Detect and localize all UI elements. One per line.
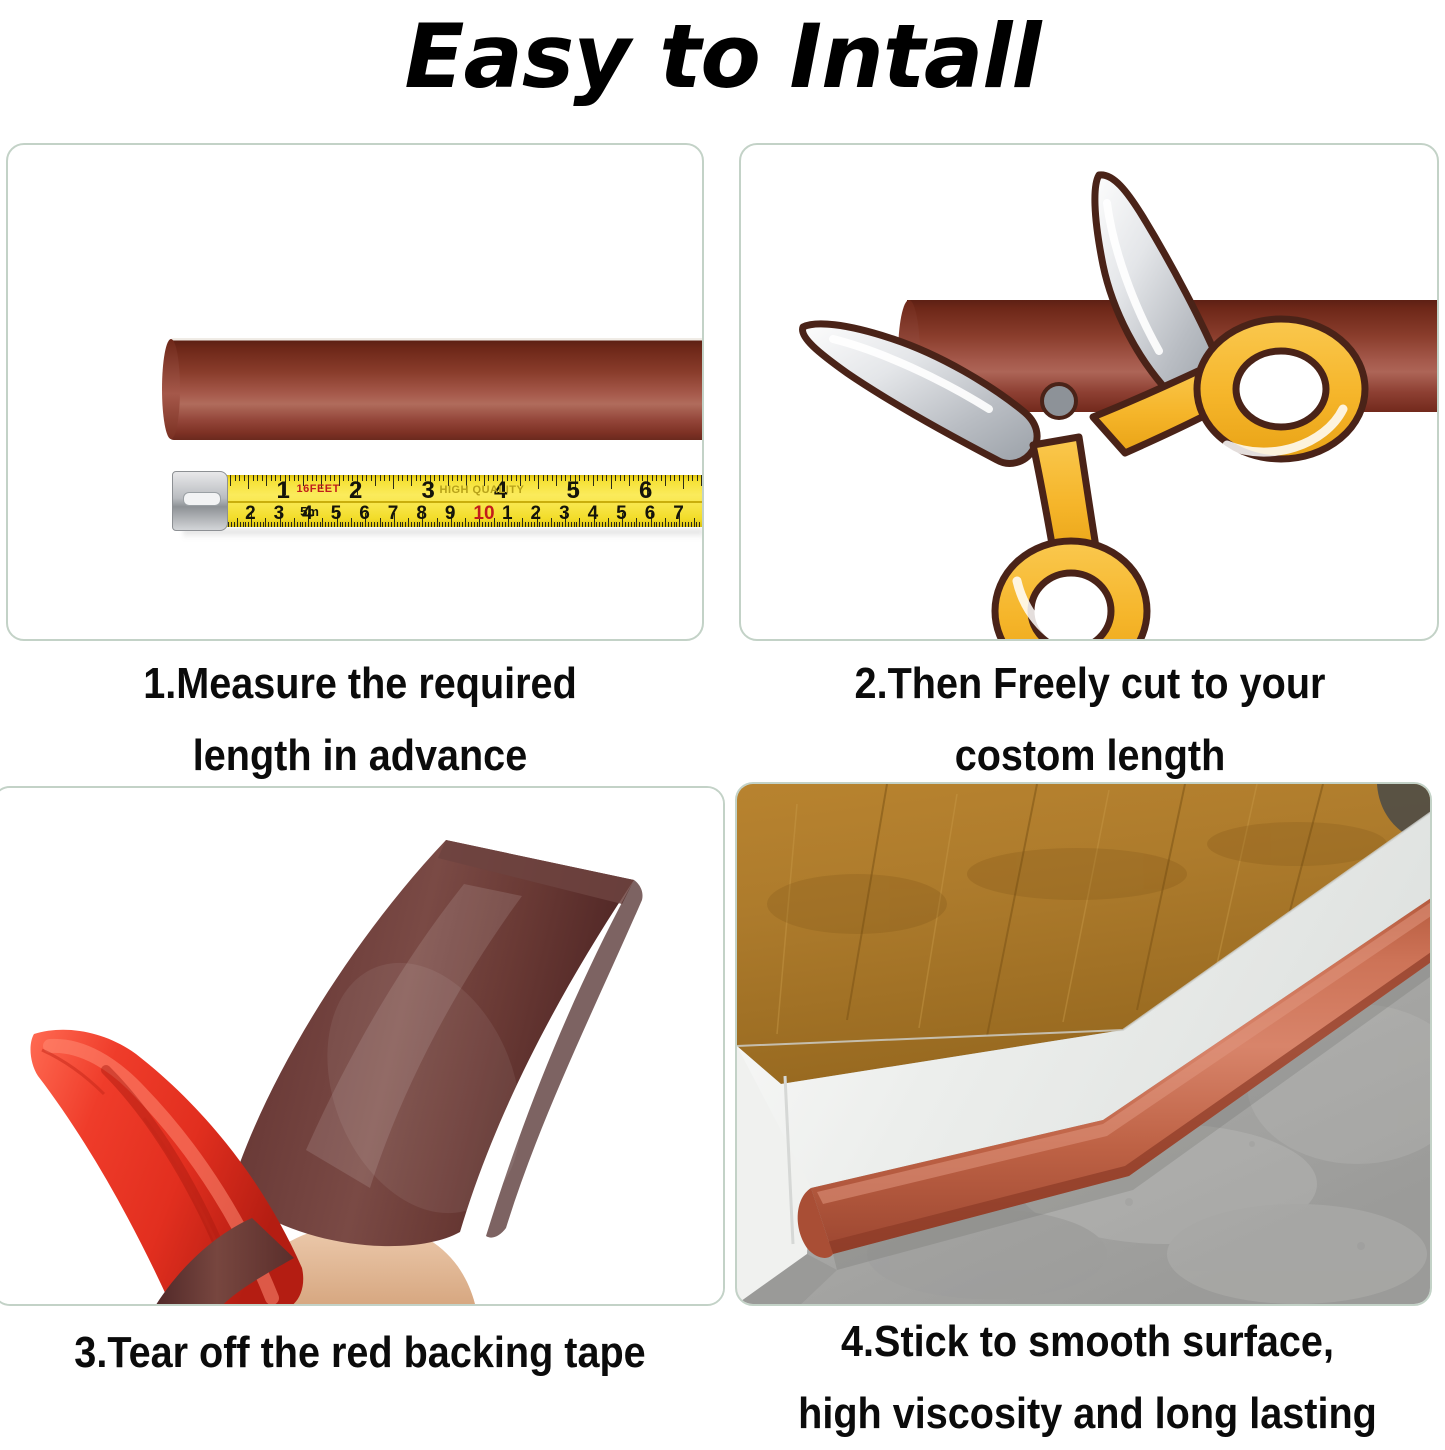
tape-tick-metric xyxy=(342,522,343,527)
tape-cm-label: 2 xyxy=(531,503,542,525)
tape-tick xyxy=(366,475,367,481)
tape-tick xyxy=(584,475,585,481)
tape-tick-metric xyxy=(602,522,603,527)
tape-tick xyxy=(371,475,372,481)
tape-tick-metric xyxy=(499,522,500,527)
tape-tick xyxy=(416,475,417,481)
tape-tick-metric xyxy=(659,522,660,527)
tape-tick-metric xyxy=(497,522,498,527)
tape-tick xyxy=(443,475,444,481)
tape-tick xyxy=(615,475,616,481)
tape-tick-metric xyxy=(557,522,558,527)
tape-tick-metric xyxy=(668,522,669,527)
tape-cm-label: 2 xyxy=(245,503,256,525)
tape-tick-metric xyxy=(377,522,378,527)
tape-tick-metric xyxy=(257,522,258,527)
tape-tick-metric xyxy=(328,522,329,527)
tape-tick-metric xyxy=(322,518,323,527)
tape-tick xyxy=(457,475,458,481)
tape-tick-metric xyxy=(688,522,689,527)
tape-tick-metric xyxy=(614,522,615,527)
tape-tick xyxy=(475,475,476,481)
tape-tick-metric xyxy=(380,518,381,527)
tape-tick-metric xyxy=(414,522,415,527)
tape-cm-label: 7 xyxy=(388,503,399,525)
tape-tick xyxy=(688,475,689,481)
tape-tick xyxy=(393,475,394,489)
tape-tick-metric xyxy=(271,522,272,527)
tape-tick xyxy=(235,475,236,481)
tape-tick xyxy=(656,475,657,481)
tape-tick xyxy=(266,475,267,486)
tape-tick xyxy=(665,475,666,486)
tape-inch-label: 1 xyxy=(277,477,290,505)
tape-tick-metric xyxy=(571,522,572,527)
tape-tick-metric xyxy=(465,518,466,527)
tape-tick-metric xyxy=(634,522,635,527)
tape-tick-metric xyxy=(374,522,375,527)
tape-tick-metric xyxy=(462,522,463,527)
tape-tick-metric xyxy=(348,522,349,527)
tape-tick-metric xyxy=(265,518,266,527)
tape-tick xyxy=(692,475,693,481)
tape-tick-metric xyxy=(574,522,575,527)
tape-tick-metric xyxy=(345,522,346,527)
tape-cm-label: 6 xyxy=(359,503,370,525)
tape-tick-metric xyxy=(662,522,663,527)
tape-tick-metric xyxy=(354,522,355,527)
tape-tick xyxy=(597,475,598,481)
tape-tick xyxy=(411,475,412,486)
tape-tick-metric xyxy=(585,522,586,527)
tape-inch-label: 6 xyxy=(639,477,652,505)
tape-tick xyxy=(556,475,557,486)
tape-tick-metric xyxy=(400,522,401,527)
tape-cm-label: 4 xyxy=(588,503,599,525)
tape-cm-label: 3 xyxy=(559,503,570,525)
tape-tick xyxy=(479,475,480,481)
tape-tick-metric xyxy=(631,522,632,527)
tape-tick xyxy=(402,475,403,481)
tape-tick xyxy=(244,475,245,481)
tape-tick-metric xyxy=(357,522,358,527)
tape-tick-metric xyxy=(243,522,244,527)
tape-tick xyxy=(525,475,526,481)
tape-tick-metric xyxy=(285,522,286,527)
tape-tick xyxy=(334,475,335,481)
tape-metric-total-label: 5m xyxy=(300,504,319,519)
tape-tick-metric xyxy=(694,518,695,527)
tape-tick xyxy=(588,475,589,481)
tape-tick-metric xyxy=(548,522,549,527)
tape-tick xyxy=(330,475,331,481)
tape-inch-label: 3 xyxy=(422,477,435,505)
tape-tick xyxy=(343,475,344,481)
tape-brand-label: 16FEET xyxy=(297,483,340,495)
tape-tick-metric xyxy=(288,522,289,527)
tape-tick-metric xyxy=(325,522,326,527)
tape-tick xyxy=(670,475,671,481)
tape-tick-metric xyxy=(468,522,469,527)
tape-tick-metric xyxy=(317,522,318,527)
tape-tick-metric xyxy=(297,522,298,527)
measure-panel: 1234567234567891012345678916FEETHIGH QUA… xyxy=(6,143,704,641)
tape-tick-metric xyxy=(551,518,552,527)
tape-cm-label: 7 xyxy=(673,503,684,525)
tape-tick-metric xyxy=(576,522,577,527)
peel-panel xyxy=(0,786,725,1306)
tape-tick xyxy=(316,475,317,481)
tape-tick xyxy=(633,475,634,481)
tape-tick-metric xyxy=(545,522,546,527)
tape-tick xyxy=(679,475,680,481)
tape-tick-metric xyxy=(300,522,301,527)
tape-tick xyxy=(624,475,625,481)
tape-tick xyxy=(629,475,630,486)
step-1-caption: 1.Measure the required length in advance xyxy=(54,648,666,792)
tape-tick-metric xyxy=(685,522,686,527)
tape-tick-metric xyxy=(234,522,235,527)
tape-tick-metric xyxy=(702,522,703,527)
step-3-caption: 3.Tear off the red backing tape xyxy=(36,1316,684,1390)
tape-cm-label: 3 xyxy=(274,503,285,525)
tape-inch-label: 2 xyxy=(349,477,362,505)
tape-tick-metric xyxy=(608,518,609,527)
peel-illustration xyxy=(0,788,725,1306)
tape-tick-metric xyxy=(442,522,443,527)
tape-tick xyxy=(407,475,408,481)
tape-tick-metric xyxy=(519,522,520,527)
tape-tick-metric xyxy=(599,522,600,527)
page-title: Easy to Intall xyxy=(0,2,1445,112)
step-4-caption: 4.Stick to smooth surface, high viscosit… xyxy=(766,1306,1410,1450)
tape-tick-metric xyxy=(405,522,406,527)
tape-tick xyxy=(294,475,295,481)
tape-tick xyxy=(674,475,675,481)
tape-tick-metric xyxy=(457,522,458,527)
tape-tick xyxy=(271,475,272,481)
tape-tick-metric xyxy=(611,522,612,527)
tape-tick xyxy=(561,475,562,481)
tape-tick-metric xyxy=(691,522,692,527)
tape-tick xyxy=(606,475,607,481)
tape-tick xyxy=(312,475,313,481)
tape-cm-label: 1 xyxy=(502,503,513,525)
tape-tick xyxy=(461,475,462,481)
tape-tick-metric xyxy=(408,518,409,527)
tape-cm-label: 6 xyxy=(645,503,656,525)
cut-panel xyxy=(739,143,1439,641)
tape-tick-metric xyxy=(320,522,321,527)
tape-cm-label: 10 xyxy=(473,503,494,525)
tape-tick-metric xyxy=(371,522,372,527)
stick-panel xyxy=(735,782,1432,1306)
tape-tick xyxy=(248,475,249,489)
tape-tick-metric xyxy=(314,522,315,527)
tape-tick-metric xyxy=(260,522,261,527)
tape-tick-metric xyxy=(525,522,526,527)
step-2-caption: 2.Then Freely cut to your costom length xyxy=(780,648,1401,792)
tape-tick-metric xyxy=(434,522,435,527)
tape-tick-metric xyxy=(351,518,352,527)
tape-tick-metric xyxy=(579,518,580,527)
tape-tick-metric xyxy=(522,518,523,527)
tape-tick xyxy=(602,475,603,481)
tape-tick-metric xyxy=(696,522,697,527)
tape-tick-metric xyxy=(665,518,666,527)
tape-tick-metric xyxy=(385,522,386,527)
tape-cm-label: 5 xyxy=(616,503,627,525)
tape-tick xyxy=(529,475,530,481)
tape-tick xyxy=(511,475,512,481)
tape-tick-metric xyxy=(542,522,543,527)
tape-tick xyxy=(488,475,489,481)
tape-tick xyxy=(661,475,662,481)
tape-tick xyxy=(384,475,385,481)
tape-tick-metric xyxy=(471,522,472,527)
scissors-icon xyxy=(741,145,1439,641)
tape-tick xyxy=(538,475,539,489)
tape-tick-metric xyxy=(699,522,700,527)
tape-tick-metric xyxy=(642,522,643,527)
tape-inch-label: 5 xyxy=(567,477,580,505)
tape-tick xyxy=(470,475,471,481)
tape-tick-metric xyxy=(237,518,238,527)
tape-tick xyxy=(298,475,299,481)
tape-tick xyxy=(534,475,535,481)
tape-tick-metric xyxy=(240,522,241,527)
installed-molding-photo xyxy=(737,784,1432,1306)
tape-tick xyxy=(253,475,254,481)
tape-cm-label: 9 xyxy=(445,503,456,525)
tape-tick xyxy=(620,475,621,481)
tape-quality-label: HIGH QUALITY xyxy=(440,484,525,496)
tape-tick xyxy=(516,475,517,481)
tape-tick-metric xyxy=(437,518,438,527)
tape-tick-metric xyxy=(656,522,657,527)
tape-tick-metric xyxy=(228,522,229,527)
tape-tick-metric xyxy=(291,522,292,527)
tape-tick-metric xyxy=(628,522,629,527)
tape-tick xyxy=(611,475,612,489)
tape-tick xyxy=(307,475,308,481)
tape-tick-metric xyxy=(528,522,529,527)
tape-tick-metric xyxy=(231,522,232,527)
tape-tick xyxy=(683,475,684,489)
tape-cm-label: 5 xyxy=(331,503,342,525)
tape-tick xyxy=(325,475,326,481)
tape-tick xyxy=(547,475,548,481)
tape-tick-metric xyxy=(431,522,432,527)
tape-tick-metric xyxy=(411,522,412,527)
tape-tick xyxy=(543,475,544,481)
strip-shadow xyxy=(183,529,703,539)
tape-tick-metric xyxy=(582,522,583,527)
tape-tick-metric xyxy=(294,518,295,527)
tape-tick xyxy=(239,475,240,481)
tape-tick xyxy=(262,475,263,481)
tape-tick-metric xyxy=(671,522,672,527)
tape-tick-metric xyxy=(517,522,518,527)
tape-tick xyxy=(439,475,440,481)
tape-tick-metric xyxy=(382,522,383,527)
tape-cm-label: 8 xyxy=(416,503,427,525)
tape-tick-metric xyxy=(439,522,440,527)
tape-tick-metric xyxy=(636,518,637,527)
tape-tick xyxy=(257,475,258,481)
tape-tick-metric xyxy=(263,522,264,527)
tape-tick-metric xyxy=(402,522,403,527)
tape-tick xyxy=(452,475,453,481)
molding-strip-illustration xyxy=(168,338,704,440)
tape-tick-metric xyxy=(639,522,640,527)
tape-tick xyxy=(697,475,698,481)
tape-cm-label: 8 xyxy=(702,503,704,525)
tape-tick xyxy=(389,475,390,481)
tape-tick xyxy=(398,475,399,481)
tape-tick-metric xyxy=(428,522,429,527)
tape-tick-metric xyxy=(554,522,555,527)
tape-tick-metric xyxy=(605,522,606,527)
tape-tick-metric xyxy=(514,522,515,527)
tape-tick xyxy=(593,475,594,486)
tape-tick xyxy=(380,475,381,481)
tape-tick xyxy=(701,475,702,486)
tape-tick xyxy=(230,475,231,486)
tape-measure-hook-icon xyxy=(172,471,228,531)
tape-tick-metric xyxy=(268,522,269,527)
tape-tick xyxy=(375,475,376,486)
tape-tick xyxy=(552,475,553,481)
tape-tick-metric xyxy=(459,522,460,527)
